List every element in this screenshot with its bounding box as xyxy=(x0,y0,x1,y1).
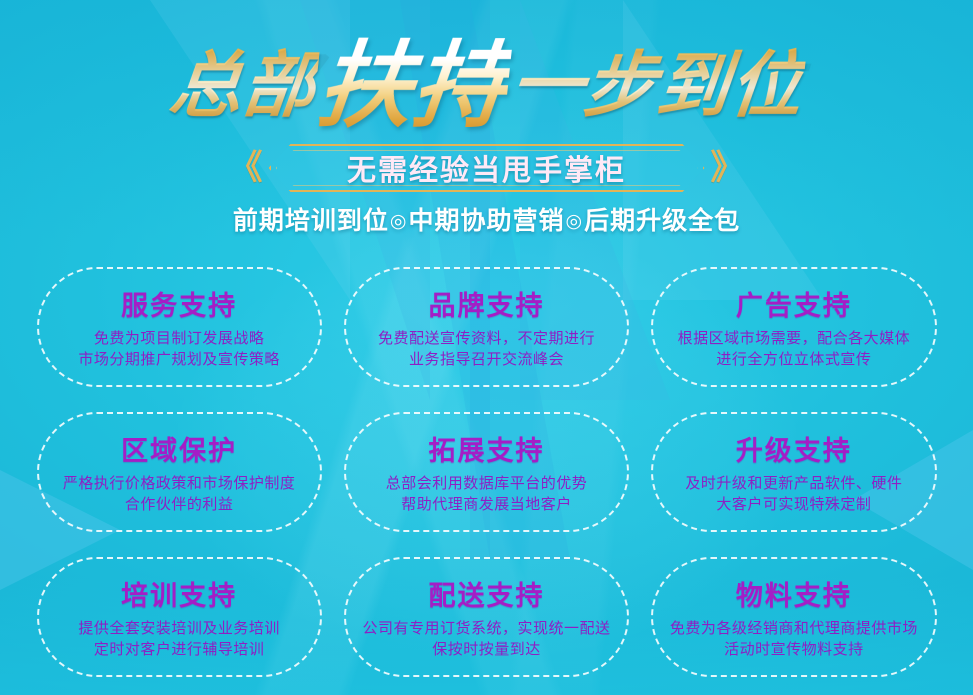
support-card: 升级支持 及时升级和更新产品软件、硬件 大客户可实现特殊定制 xyxy=(651,412,936,532)
card-line-2: 帮助代理商发展当地客户 xyxy=(401,494,572,515)
headline-ribbon: 《 》 无需经验当甩手掌柜 xyxy=(227,144,747,192)
support-card: 广告支持 根据区域市场需要，配合各大媒体 进行全方位立体式宣传 xyxy=(651,267,936,387)
support-card: 物料支持 免费为各级经销商和代理商提供市场 活动时宣传物料支持 xyxy=(651,557,936,677)
headline-part-1: 总部 xyxy=(165,34,322,138)
poster-root: 总部扶持一步到位 《 》 无需经验当甩手掌柜 前期培训到位◎中期协助营销◎后期升… xyxy=(0,0,973,695)
ribbon-text: 无需经验当甩手掌柜 xyxy=(227,144,747,192)
support-card: 拓展支持 总部会利用数据库平台的优势 帮助代理商发展当地客户 xyxy=(344,412,629,532)
card-line-2: 市场分期推广规划及宣传策略 xyxy=(78,349,280,370)
headline: 总部扶持一步到位 xyxy=(0,34,973,142)
card-title: 配送支持 xyxy=(428,574,544,613)
support-card: 服务支持 免费为项目制订发展战略 市场分期推广规划及宣传策略 xyxy=(37,267,322,387)
card-title: 品牌支持 xyxy=(428,284,544,323)
support-card: 配送支持 公司有专用订货系统，实现统一配送 保按时按量到达 xyxy=(344,557,629,677)
card-line-1: 及时升级和更新产品软件、硬件 xyxy=(685,473,902,494)
tagline: 前期培训到位◎中期协助营销◎后期升级全包 xyxy=(0,201,973,237)
card-line-2: 保按时按量到达 xyxy=(432,639,541,660)
card-line-1: 公司有专用订货系统，实现统一配送 xyxy=(362,618,610,639)
tagline-segment-1: 前期培训到位 xyxy=(233,207,389,235)
card-title: 服务支持 xyxy=(121,284,237,323)
card-title: 区域保护 xyxy=(121,429,237,468)
card-line-2: 定时对客户进行辅导培训 xyxy=(94,639,265,660)
card-line-2: 大客户可实现特殊定制 xyxy=(716,494,871,515)
tagline-separator-1-icon: ◎ xyxy=(390,211,408,232)
card-line-2: 进行全方位立体式宣传 xyxy=(716,349,871,370)
card-line-2: 活动时宣传物料支持 xyxy=(724,639,864,660)
support-card-grid: 服务支持 免费为项目制订发展战略 市场分期推广规划及宣传策略 品牌支持 免费配送… xyxy=(37,267,937,677)
support-card: 培训支持 提供全套安装培训及业务培训 定时对客户进行辅导培训 xyxy=(37,557,322,677)
card-title: 拓展支持 xyxy=(428,429,544,468)
tagline-segment-3: 后期升级全包 xyxy=(584,207,740,235)
card-line-1: 免费配送宣传资料，不定期进行 xyxy=(378,328,595,349)
card-title: 培训支持 xyxy=(121,574,237,613)
card-title: 广告支持 xyxy=(736,284,852,323)
card-line-1: 根据区域市场需要，配合各大媒体 xyxy=(678,328,911,349)
card-line-2: 合作伙伴的利益 xyxy=(125,494,234,515)
card-line-1: 免费为各级经销商和代理商提供市场 xyxy=(670,618,918,639)
card-line-1: 免费为项目制订发展战略 xyxy=(94,328,265,349)
card-line-1: 总部会利用数据库平台的优势 xyxy=(386,473,588,494)
card-line-2: 业务指导召开交流峰会 xyxy=(409,349,564,370)
card-line-1: 严格执行价格政策和市场保护制度 xyxy=(63,473,296,494)
tagline-segment-2: 中期协助营销 xyxy=(408,207,564,235)
tagline-separator-2-icon: ◎ xyxy=(566,211,584,232)
card-title: 物料支持 xyxy=(736,574,852,613)
headline-part-2: 扶持 xyxy=(313,34,514,138)
support-card: 品牌支持 免费配送宣传资料，不定期进行 业务指导召开交流峰会 xyxy=(344,267,629,387)
support-card: 区域保护 严格执行价格政策和市场保护制度 合作伙伴的利益 xyxy=(37,412,322,532)
card-line-1: 提供全套安装培训及业务培训 xyxy=(78,618,280,639)
card-title: 升级支持 xyxy=(736,429,852,468)
poster-header: 总部扶持一步到位 《 》 无需经验当甩手掌柜 前期培训到位◎中期协助营销◎后期升… xyxy=(0,0,973,237)
headline-part-3: 一步到位 xyxy=(505,34,808,138)
